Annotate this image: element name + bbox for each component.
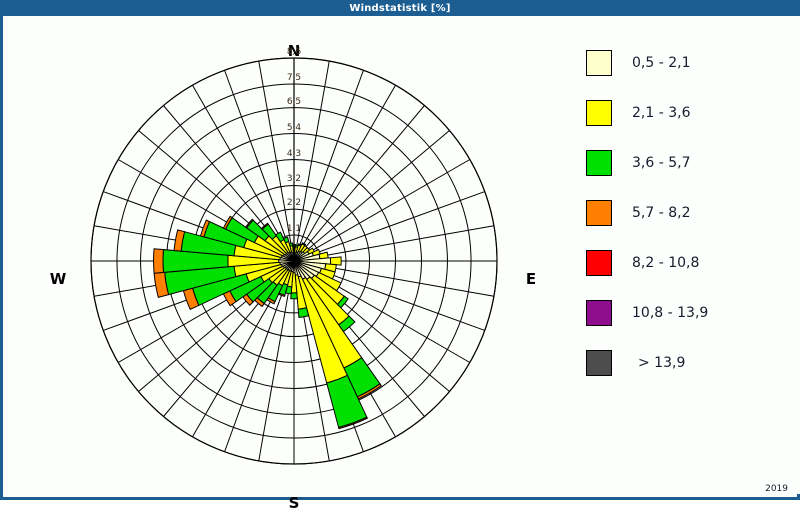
- legend: 0,5 - 2,12,1 - 3,63,6 - 5,75,7 - 8,28,2 …: [586, 38, 786, 388]
- legend-label: 8,2 - 10,8: [632, 255, 699, 271]
- legend-label: 5,7 - 8,2: [632, 205, 690, 221]
- legend-label: 0,5 - 2,1: [632, 55, 690, 71]
- legend-label: 10,8 - 13,9: [632, 305, 708, 321]
- windrose-petal-segment[interactable]: [289, 243, 292, 246]
- legend-swatch: [586, 350, 612, 376]
- legend-row[interactable]: > 13,9: [586, 338, 786, 388]
- radial-tick-label: 8,6: [279, 47, 309, 57]
- legend-swatch: [586, 150, 612, 176]
- legend-row[interactable]: 2,1 - 3,6: [586, 88, 786, 138]
- radial-tick-label: 3,2: [279, 174, 309, 184]
- legend-row[interactable]: 3,6 - 5,7: [586, 138, 786, 188]
- window-title: Windstatistik [%]: [349, 3, 450, 14]
- legend-label: 3,6 - 5,7: [632, 155, 690, 171]
- legend-label: > 13,9: [638, 355, 685, 371]
- legend-swatch: [586, 200, 612, 226]
- radial-tick-label: 6,5: [279, 97, 309, 107]
- windrose-chart: N S W E 1,12,23,24,35,46,57,58,6: [0, 16, 575, 500]
- radial-tick-label: 7,5: [279, 73, 309, 83]
- legend-swatch: [586, 100, 612, 126]
- compass-label-east: E: [511, 270, 551, 288]
- compass-label-south: S: [274, 494, 314, 512]
- footer-year: 2019: [765, 484, 788, 494]
- window-title-bar: Windstatistik [%]: [0, 0, 800, 16]
- legend-row[interactable]: 10,8 - 13,9: [586, 288, 786, 338]
- legend-label: 2,1 - 3,6: [632, 105, 690, 121]
- windrose-petal-segment[interactable]: [154, 249, 164, 273]
- compass-label-west: W: [38, 270, 78, 288]
- radial-tick-label: 5,4: [279, 123, 309, 133]
- legend-swatch: [586, 50, 612, 76]
- legend-swatch: [586, 300, 612, 326]
- radial-tick-label: 1,1: [279, 224, 309, 234]
- radial-tick-label: 2,2: [279, 198, 309, 208]
- radial-tick-label: 4,3: [279, 149, 309, 159]
- legend-row[interactable]: 5,7 - 8,2: [586, 188, 786, 238]
- windrose-petal-segment[interactable]: [291, 293, 298, 299]
- legend-row[interactable]: 8,2 - 10,8: [586, 238, 786, 288]
- legend-row[interactable]: 0,5 - 2,1: [586, 38, 786, 88]
- windrose-window: Windstatistik [%] N S W E 1,12,23,24,35,…: [0, 0, 800, 500]
- windrose-svg: [0, 16, 575, 500]
- legend-swatch: [586, 250, 612, 276]
- windrose-petal-segment[interactable]: [298, 308, 308, 318]
